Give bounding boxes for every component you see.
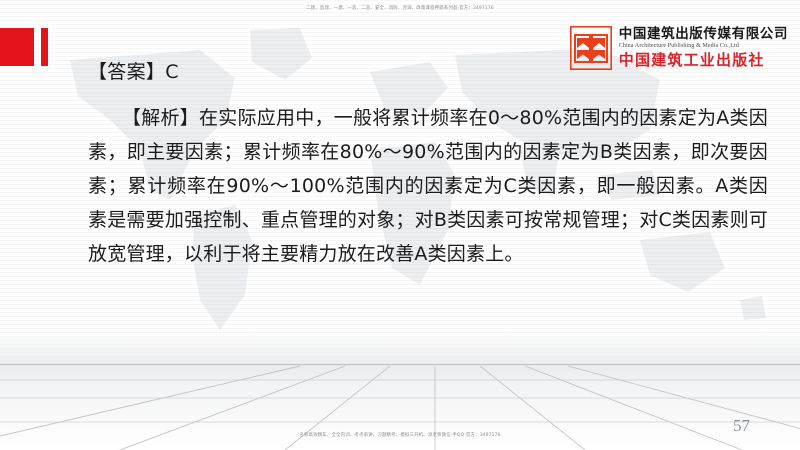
- page-number: 57: [733, 416, 750, 436]
- analysis-paragraph: 【解析】在实际应用中，一般将累计频率在0～80%范围内的因素定为A类因素，即主要…: [88, 101, 768, 271]
- header-micro-text: 二建、监理、一建、一造、二造、安全、消防、咨询、政策课程押题系列品·官方：349…: [0, 5, 800, 11]
- accent-block-square: [0, 28, 34, 66]
- logo-company-name-cn: 中国建筑出版传媒有限公司: [619, 28, 788, 42]
- slide-body: 【答案】C 【解析】在实际应用中，一般将累计频率在0～80%范围内的因素定为A类…: [88, 58, 768, 271]
- answer-line: 【答案】C: [88, 58, 768, 87]
- footer-micro-text: 名师高效精车、全全内训、考点串讲、习题精考、模拟三开机、添老师微信·手QQ·官方…: [0, 432, 800, 438]
- logo-company-name-en: China Architecture Publishing & Media Co…: [619, 44, 788, 50]
- analysis-text: 【解析】在实际应用中，一般将累计频率在0～80%范围内的因素定为A类因素，即主要…: [88, 107, 768, 265]
- floor-haze: [0, 330, 800, 364]
- accent-bar-stripe: [41, 28, 48, 66]
- slide-canvas: 二建、监理、一建、一造、二造、安全、消防、咨询、政策课程押题系列品·官方：349…: [0, 0, 800, 450]
